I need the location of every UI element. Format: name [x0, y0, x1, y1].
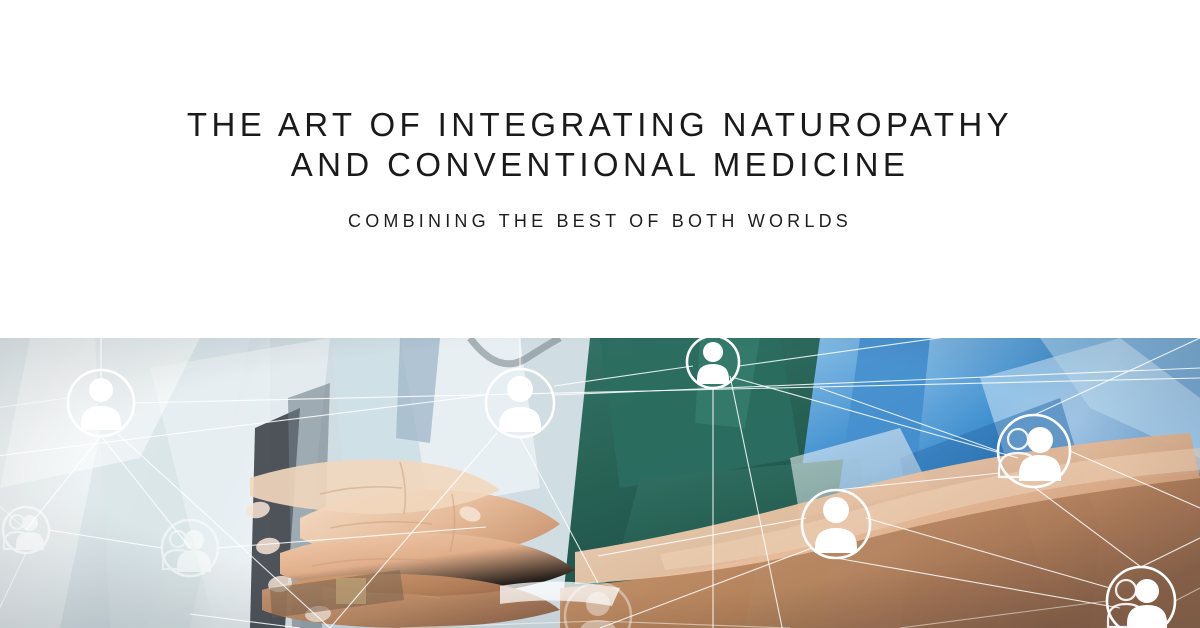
header-text-block: The Art of Integrating Naturopathy and C…	[0, 0, 1200, 338]
page-title: The Art of Integrating Naturopathy and C…	[127, 105, 1073, 185]
hero-photo	[0, 338, 1200, 628]
teamwork-photo-illustration	[0, 338, 1200, 628]
blog-banner: The Art of Integrating Naturopathy and C…	[0, 0, 1200, 628]
page-subtitle: Combining the Best of Both Worlds	[308, 209, 892, 233]
